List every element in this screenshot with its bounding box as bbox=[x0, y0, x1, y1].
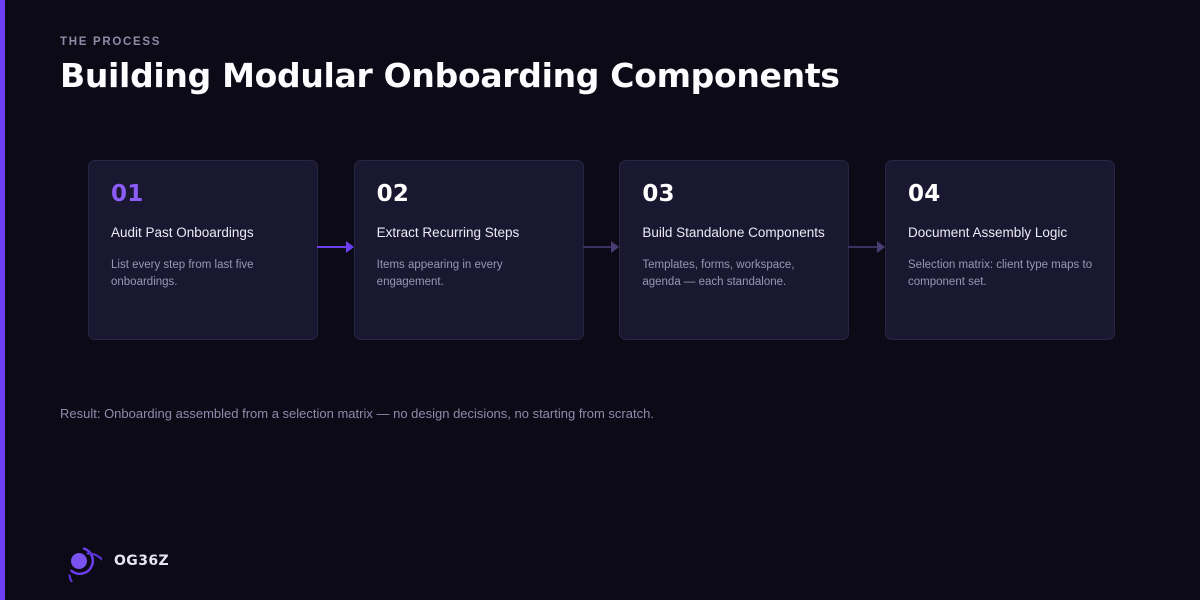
eyebrow-label: THE PROCESS bbox=[60, 36, 161, 48]
step-description: Items appearing in every engagement. bbox=[377, 257, 563, 292]
connector-arrow-1 bbox=[318, 160, 354, 340]
connector-line bbox=[848, 246, 878, 248]
step-number: 04 bbox=[908, 183, 1094, 206]
brand-lockup: OG36Z bbox=[60, 540, 169, 582]
step-number: 02 bbox=[377, 183, 563, 206]
connector-arrow-3 bbox=[849, 160, 885, 340]
arrow-head-icon bbox=[346, 241, 354, 253]
connector-line bbox=[317, 246, 347, 248]
step-card-03: 03 Build Standalone Components Templates… bbox=[619, 160, 849, 340]
process-steps: 01 Audit Past Onboardings List every ste… bbox=[88, 160, 1115, 340]
step-card-01: 01 Audit Past Onboardings List every ste… bbox=[88, 160, 318, 340]
arrow-head-icon bbox=[877, 241, 885, 253]
brand-name: OG36Z bbox=[114, 553, 169, 569]
arrow-head-icon bbox=[611, 241, 619, 253]
step-description: List every step from last five onboardin… bbox=[111, 257, 297, 292]
step-number: 01 bbox=[111, 183, 297, 206]
concentric-rings-icon bbox=[60, 540, 102, 582]
result-summary: Result: Onboarding assembled from a sele… bbox=[60, 406, 654, 421]
connector-line bbox=[583, 246, 613, 248]
step-title: Build Standalone Components bbox=[642, 223, 828, 243]
step-card-04: 04 Document Assembly Logic Selection mat… bbox=[885, 160, 1115, 340]
step-description: Templates, forms, workspace, agenda — ea… bbox=[642, 257, 828, 292]
page-title: Building Modular Onboarding Components bbox=[60, 56, 840, 95]
step-title: Audit Past Onboardings bbox=[111, 223, 297, 243]
step-title: Extract Recurring Steps bbox=[377, 223, 563, 243]
step-title: Document Assembly Logic bbox=[908, 223, 1094, 243]
connector-arrow-2 bbox=[584, 160, 620, 340]
step-number: 03 bbox=[642, 183, 828, 206]
step-card-02: 02 Extract Recurring Steps Items appeari… bbox=[354, 160, 584, 340]
step-description: Selection matrix: client type maps to co… bbox=[908, 257, 1094, 292]
slide-canvas: THE PROCESS Building Modular Onboarding … bbox=[0, 0, 1200, 600]
